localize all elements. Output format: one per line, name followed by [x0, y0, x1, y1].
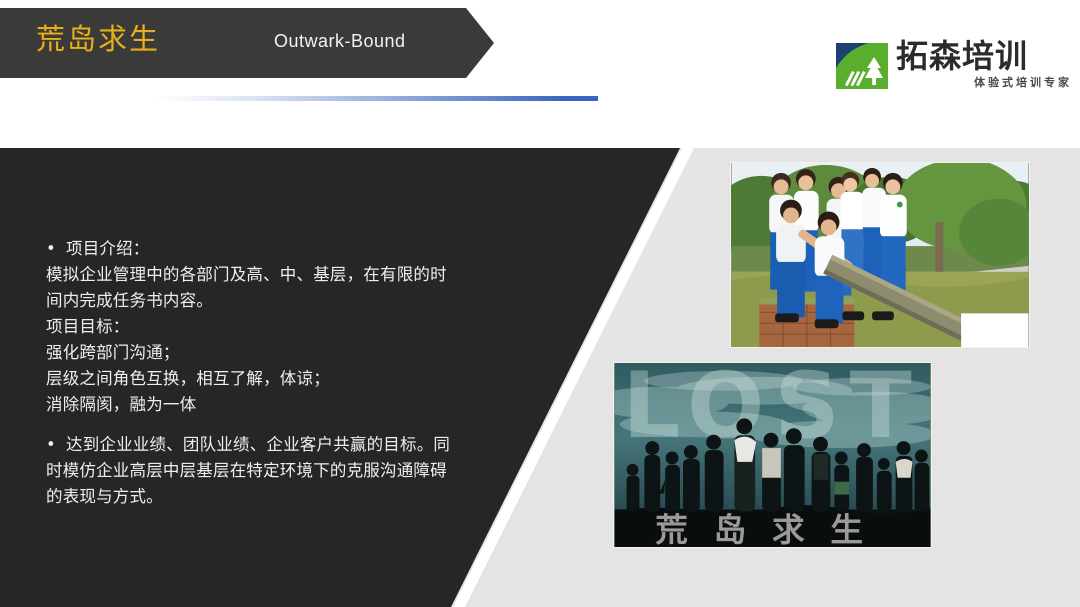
logo-wordmark: 拓森培训 体验式培训专家 [896, 38, 1072, 92]
text-line: 层级之间角色互换，相互了解，体谅； [46, 366, 498, 392]
paragraph-intro-body: 模拟企业管理中的各部门及高、中、基层，在有限的时 间内完成任务书内容。 项目目标… [46, 262, 498, 418]
bullet-icon: • [46, 236, 66, 262]
team-plank-balance-photo [730, 162, 1030, 348]
svg-text:荒岛求生: 荒岛求生 [655, 511, 888, 547]
lost-poster-photo: LOST [613, 362, 932, 548]
text-line: 强化跨部门沟通； [46, 340, 498, 366]
slide-root: 荒岛求生 Outwark-Bound 拓森培训 体验式培训 [0, 0, 1080, 607]
bullet-icon: • [46, 432, 66, 458]
header-divider-rule [155, 96, 598, 101]
text-line: 消除隔阂，融为一体 [46, 392, 498, 418]
green-forest-mountain-logo-icon [834, 40, 890, 90]
page-title-cn: 荒岛求生 [36, 16, 160, 62]
logo-tagline: 体验式培训专家 [974, 76, 1072, 89]
paragraph-goals: •达到企业业绩、团队业绩、企业客户共赢的目标。同 时模仿企业高层中层基层在特定环… [46, 432, 498, 510]
text-line: 模拟企业管理中的各部门及高、中、基层，在有限的时 [46, 262, 498, 288]
paragraph-intro-heading: •项目介绍： [46, 236, 498, 262]
paragraph-spacer [46, 418, 498, 432]
text-line: 间内完成任务书内容。 [46, 288, 498, 314]
body-text-block: •项目介绍： 模拟企业管理中的各部门及高、中、基层，在有限的时 间内完成任务书内… [46, 236, 498, 510]
text-line: 达到企业业绩、团队业绩、企业客户共赢的目标。同 [66, 435, 450, 454]
text-line: 项目目标： [46, 314, 498, 340]
text-line: 项目介绍： [66, 239, 150, 258]
page-title-en: Outwark-Bound [274, 28, 406, 54]
logo-company-name: 拓森培训 [896, 36, 1028, 76]
text-line: 时模仿企业高层中层基层在特定环境下的克服沟通障碍 [46, 458, 498, 484]
text-line: 的表现与方式。 [46, 484, 498, 510]
brand-logo: 拓森培训 体验式培训专家 [834, 38, 1072, 92]
